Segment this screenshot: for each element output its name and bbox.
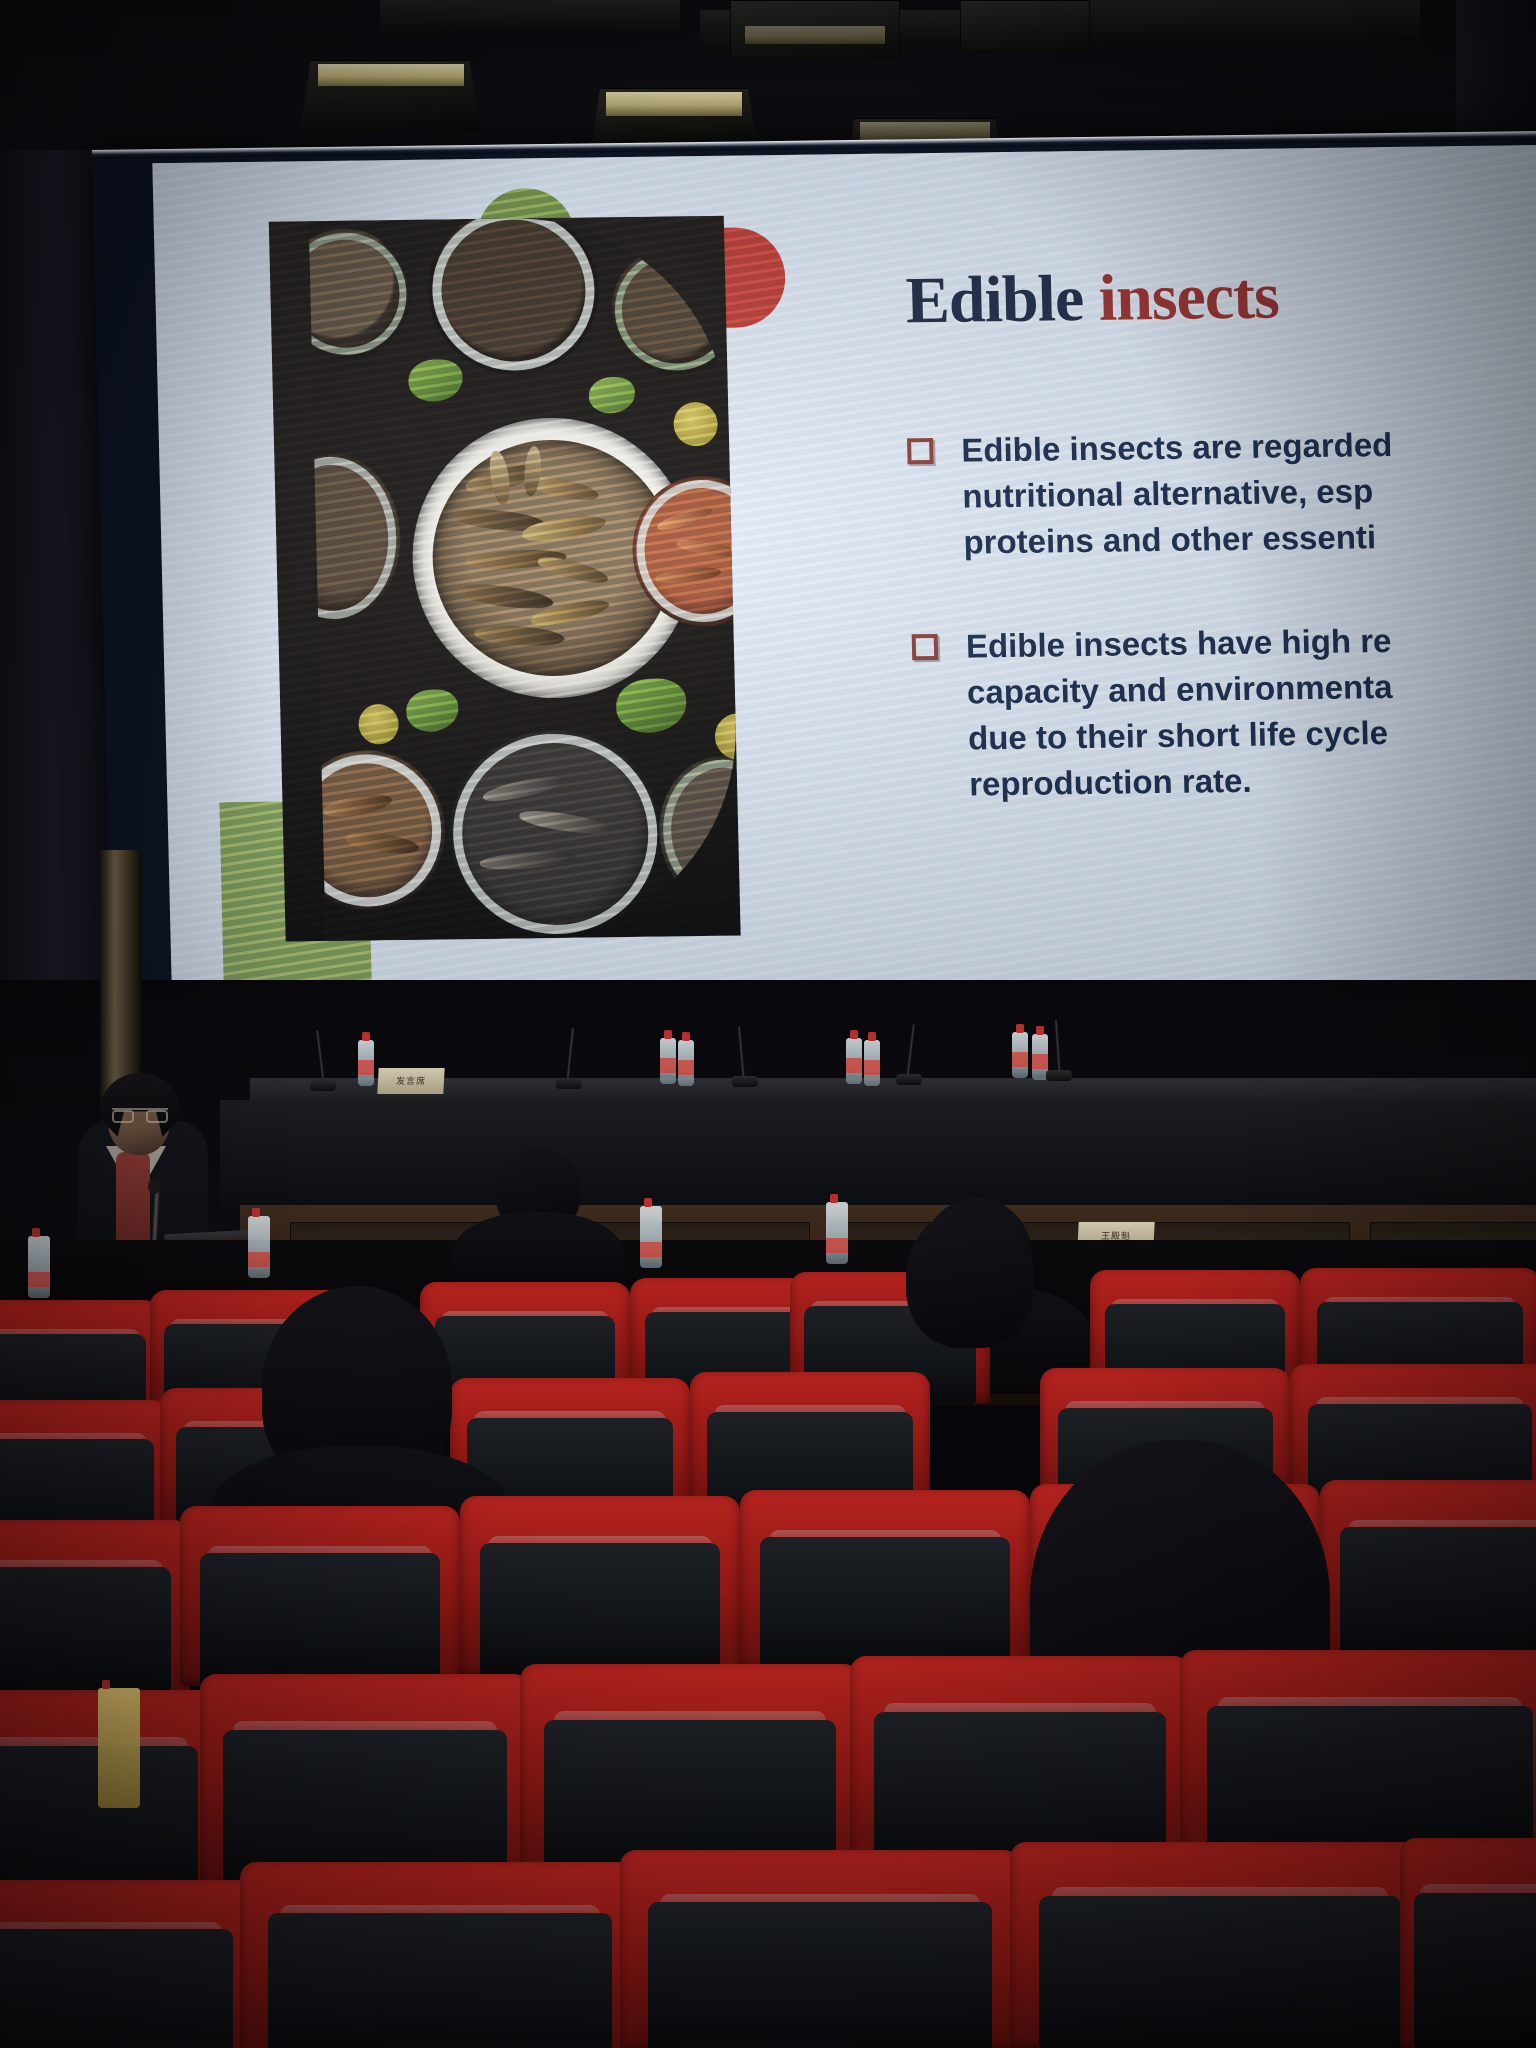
attendee-head [906,1208,1034,1348]
stage-light-5-glow [745,26,885,44]
panel-table-front [220,1100,1536,1210]
water-bottle [864,1040,880,1086]
checkbox-square-marker-icon [912,634,939,660]
seat [740,1490,1030,1670]
microphone-base [556,1078,582,1089]
slide-title-part-1: Edible [905,262,1100,338]
slide-title: Edible insects [905,258,1280,339]
microphone-base [732,1076,758,1087]
water-bottle [846,1038,862,1084]
bullet-item: Edible insects have high re capacity and… [903,615,1536,808]
seat [0,1520,190,1700]
water-bottle [1012,1032,1028,1078]
water-bottle [248,1216,270,1278]
seat [1320,1480,1536,1660]
seat [1180,1650,1536,1865]
seat [1400,1838,1536,2048]
nameplate: 发言席 [377,1068,444,1094]
water-bottle [358,1040,374,1086]
podium-microphone-head [148,1178,161,1194]
slide-title-part-2: insects [1098,259,1280,334]
seat [460,1496,740,1676]
seat [0,1880,260,2048]
conference-photo-scene: Edible insects Edible insects are regard… [0,0,1536,2048]
seat [520,1664,860,1879]
bullet-text: Edible insects are regarded nutritional … [961,419,1536,566]
slide-text-column: Edible insects Edible insects are regard… [852,145,1536,1006]
seat [850,1656,1190,1871]
stage-light-1-glow [318,64,464,86]
water-bottle [826,1202,848,1264]
photo-rounded-mask [309,216,741,941]
speaker-glasses-icon [112,1108,168,1121]
stage-light-6 [960,0,1090,52]
microphone-base [1046,1070,1072,1081]
water-bottle [660,1038,676,1084]
stage-light-2-glow [606,92,742,116]
seat [240,1862,640,2048]
slide-bullet-list: Edible insects are regarded nutritional … [899,419,1536,866]
bullet-item: Edible insects are regarded nutritional … [899,419,1536,566]
water-bottle [28,1236,50,1298]
projection-screen: Edible insects Edible insects are regard… [92,131,1536,1030]
microphone-base [896,1074,922,1085]
presentation-slide: Edible insects Edible insects are regard… [152,145,1536,1015]
seat [180,1506,460,1686]
water-bottle-foreground [98,1688,140,1808]
seat [620,1850,1020,2048]
bullet-text: Edible insects have high re capacity and… [965,615,1536,808]
water-bottle [678,1040,694,1086]
checkbox-square-marker-icon [907,438,934,464]
microphone-base [310,1080,336,1091]
edible-insects-photo [269,216,741,942]
seat [200,1674,530,1889]
water-bottle [640,1206,662,1268]
seat [1010,1842,1430,2048]
